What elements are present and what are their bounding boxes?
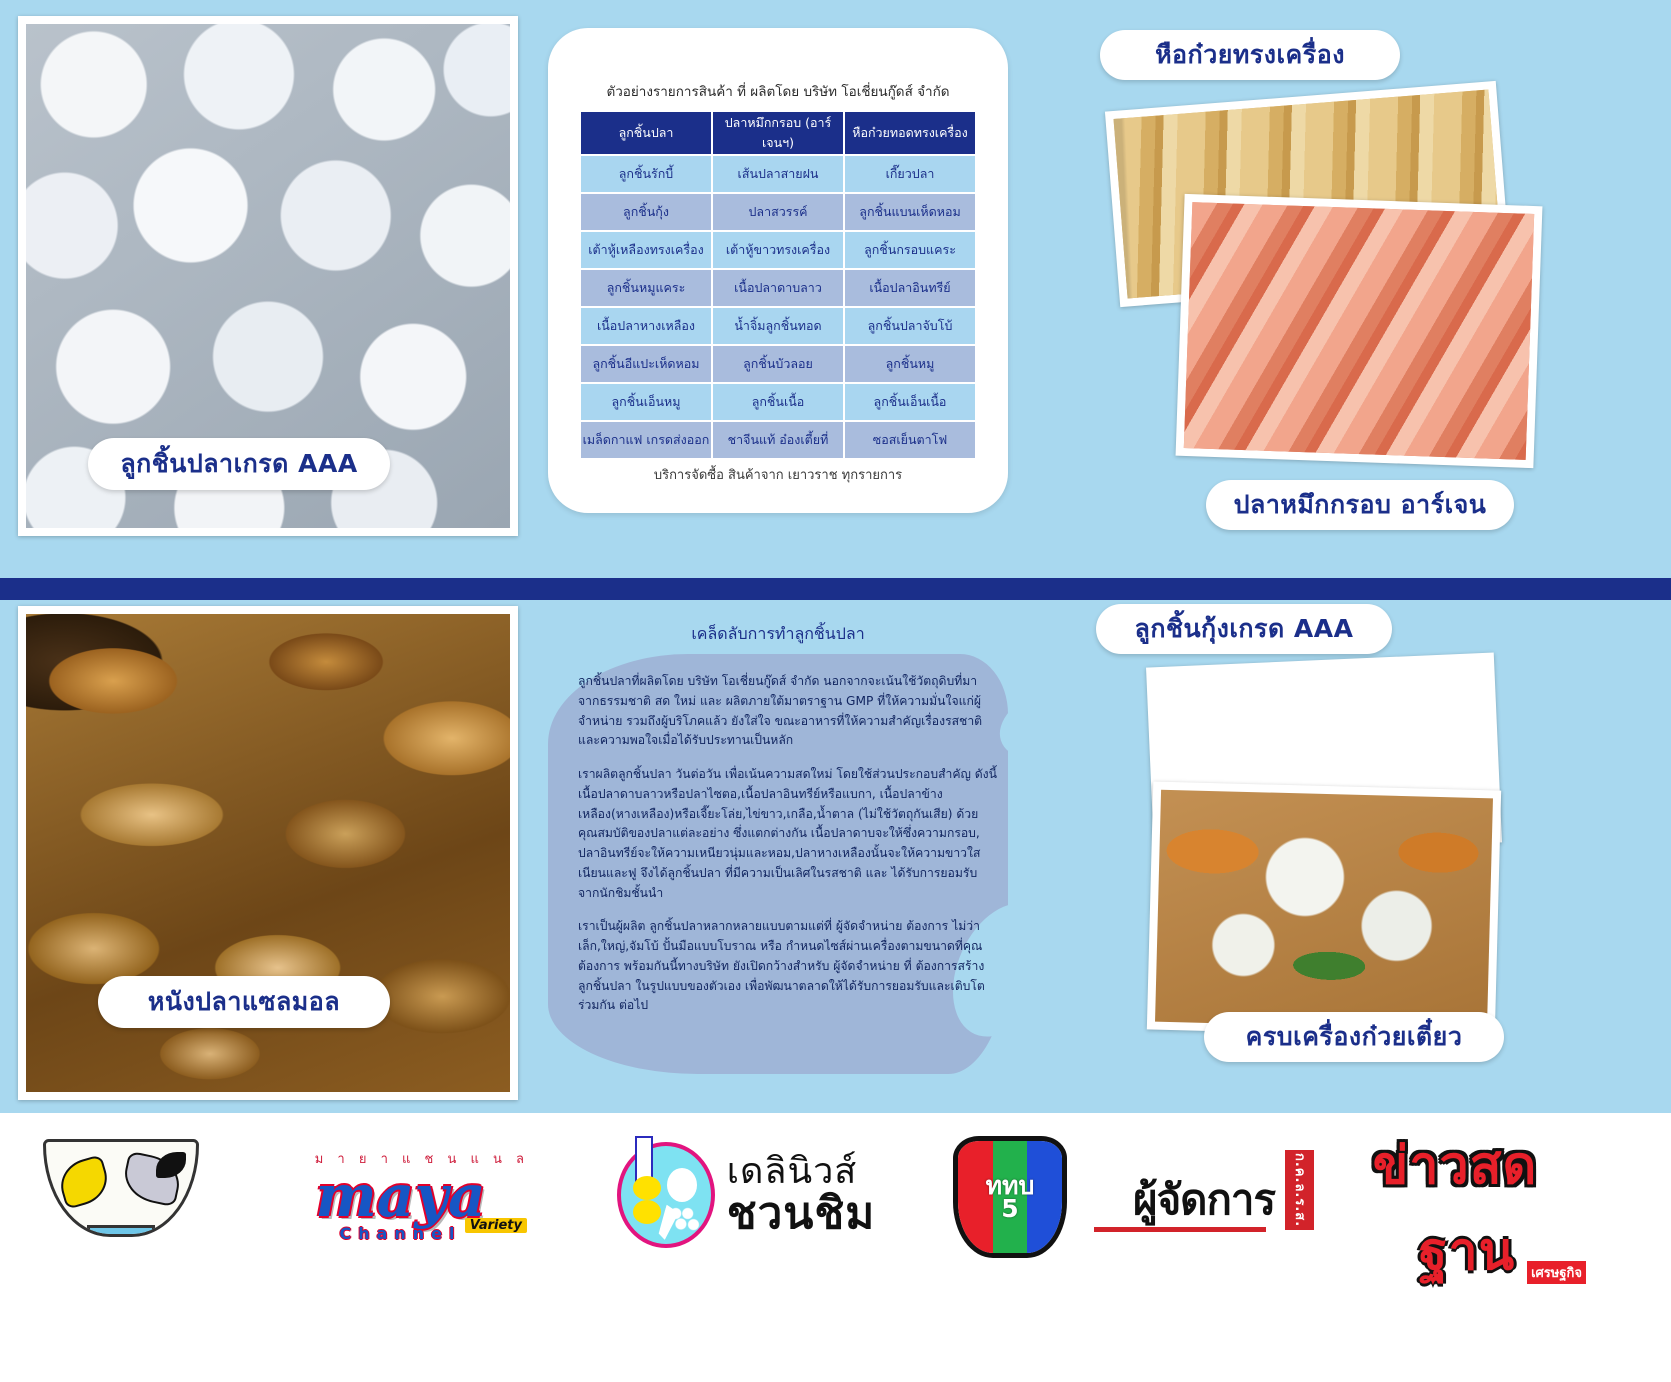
product-list-footer: บริการจัดซื้อ สินค้าจาก เยาวราช ทุกรายกา…	[548, 464, 1008, 485]
tv5-line2: 5	[1001, 1197, 1018, 1220]
table-cell: เต้าหู้ขาวทรงเครื่อง	[713, 232, 843, 268]
table-cell: ลูกชิ้นกรอบแคระ	[845, 232, 975, 268]
label-squid: ปลาหมึกกรอบ อาร์เจน	[1206, 480, 1514, 530]
than-subtitle: เศรษฐกิจ	[1527, 1261, 1586, 1284]
table-row: เนื้อปลาหางเหลือง น้ำจิ้มลูกชิ้นทอด ลูกช…	[581, 308, 975, 344]
sponsor-logo-khaosod: ข่าวสด	[1330, 1128, 1580, 1200]
table-cell: ลูกชิ้นอีแปะเห็ดหอม	[581, 346, 711, 382]
fish-bowl-icon	[43, 1139, 199, 1237]
table-cell: ลูกชิ้นปลาจับโบ้	[845, 308, 975, 344]
table-cell: ลูกชิ้นแบนเห็ดหอม	[845, 194, 975, 230]
tips-paragraph: เราผลิตลูกชิ้นปลา วันต่อวัน เพื่อเน้นควา…	[578, 765, 998, 903]
dailynews-line2: ชวนชิม	[727, 1192, 876, 1236]
yellow-fish-icon	[55, 1154, 113, 1210]
glass-icon	[635, 1136, 653, 1182]
khaosod-wordmark: ข่าวสด	[1373, 1123, 1537, 1206]
table-cell: เต้าหู้เหลืองทรงเครื่อง	[581, 232, 711, 268]
egg-icon	[667, 1168, 697, 1202]
table-cell: เส้นปลาสายฝน	[713, 156, 843, 192]
table-row: ลูกชิ้นเอ็นหมู ลูกชิ้นเนื้อ ลูกชิ้นเอ็นเ…	[581, 384, 975, 420]
tv5-text: ททบ 5	[958, 1141, 1062, 1253]
sponsor-logo-tv5: ททบ 5	[950, 1138, 1070, 1256]
table-cell: ลูกชิ้นหมู	[845, 346, 975, 382]
blob-decoration	[990, 669, 1126, 775]
tv5-shield-icon: ททบ 5	[953, 1136, 1067, 1258]
manager-wordmark: ผู้จัดการ	[1133, 1167, 1275, 1233]
sponsor-logo-fish-bowl	[36, 1128, 206, 1248]
photo-squid	[1176, 194, 1543, 468]
table-header-cell: ลูกชิ้นปลา	[581, 112, 711, 154]
manager-side-box: ก.ค.ล.ร.ส.	[1285, 1150, 1314, 1230]
table-cell: ลูกชิ้นหมูแคระ	[581, 270, 711, 306]
table-cell: ซอสเย็นตาโฟ	[845, 422, 975, 458]
brochure-page: ลูกชิ้นปลาเกรด AAA หนังปลาแซลมอล ตัวอย่า…	[0, 0, 1671, 1382]
table-header-cell: ปลาหมึกกรอบ (อาร์เจนฯ)	[713, 112, 843, 154]
dailynews-wordmark: เดลินิวส์ ชวนชิม	[727, 1154, 876, 1236]
product-list-title: ตัวอย่างรายการสินค้า ที่ ผลิตโดย บริษัท …	[548, 80, 1008, 102]
label-fishball: ลูกชิ้นปลาเกรด AAA	[88, 438, 390, 490]
table-cell: ลูกชิ้นบัวลอย	[713, 346, 843, 382]
table-cell: เนื้อปลาดาบลาว	[713, 270, 843, 306]
table-cell: เนื้อปลาอินทรีย์	[845, 270, 975, 306]
maya-channel-text: Channel	[339, 1224, 461, 1243]
tips-section: เคล็ดลับการทำลูกชิ้นปลา ลูกชิ้นปลาที่ผลิ…	[528, 600, 1028, 1100]
dailynews-line1: เดลินิวส์	[727, 1154, 876, 1190]
black-fish-tail-icon	[156, 1152, 186, 1178]
tips-paragraph: ลูกชิ้นปลาที่ผลิตโดย บริษัท โอเชี่ยนกู๊ด…	[578, 672, 998, 751]
table-cell: ลูกชิ้นกุ้ง	[581, 194, 711, 230]
tips-title: เคล็ดลับการทำลูกชิ้นปลา	[528, 622, 1028, 647]
table-cell: เกี๊ยวปลา	[845, 156, 975, 192]
bowl-foot-icon	[87, 1225, 155, 1237]
product-list-table: ลูกชิ้นปลา ปลาหมึกกรอบ (อาร์เจนฯ) หือก๋ว…	[579, 110, 977, 460]
table-row: เมล็ดกาแฟ เกรดส่งออก ชาจีนแท้ อ๋องเตี้ยท…	[581, 422, 975, 458]
table-row: ลูกชิ้นหมูแคระ เนื้อปลาดาบลาว เนื้อปลาอิ…	[581, 270, 975, 306]
photo-squid-image	[1184, 202, 1534, 460]
table-cell: ลูกชิ้นเอ็นหมู	[581, 384, 711, 420]
than-wordmark: ฐาน	[1419, 1209, 1515, 1292]
sponsor-logo-maya: ม า ย า แ ช น แ น ล maya Variety Channel	[268, 1138, 533, 1253]
maya-variety-tag: Variety	[465, 1218, 527, 1233]
table-cell: น้ำจิ้มลูกชิ้นทอด	[713, 308, 843, 344]
dailynews-emblem-icon	[617, 1142, 715, 1248]
photo-noodlebowl-image	[1155, 790, 1493, 1031]
table-header-cell: หือก๋วยทอดทรงเครื่อง	[845, 112, 975, 154]
egg-yolk-icon	[633, 1176, 661, 1200]
table-cell: เมล็ดกาแฟ เกรดส่งออก	[581, 422, 711, 458]
table-cell: ลูกชิ้นรักบี้	[581, 156, 711, 192]
table-row: ลูกชิ้นอีแปะเห็ดหอม ลูกชิ้นบัวลอย ลูกชิ้…	[581, 346, 975, 382]
label-salmon-skin: หนังปลาแซลมอล	[98, 976, 390, 1028]
section-divider	[0, 578, 1671, 600]
manager-underline	[1094, 1227, 1266, 1232]
table-header-row: ลูกชิ้นปลา ปลาหมึกกรอบ (อาร์เจนฯ) หือก๋ว…	[581, 112, 975, 154]
table-row: ลูกชิ้นกุ้ง ปลาสวรรค์ ลูกชิ้นแบนเห็ดหอม	[581, 194, 975, 230]
table-row: ลูกชิ้นรักบี้ เส้นปลาสายฝน เกี๊ยวปลา	[581, 156, 975, 192]
label-hoikuai: หือก๋วยทรงเครื่อง	[1100, 30, 1400, 80]
tips-body: ลูกชิ้นปลาที่ผลิตโดย บริษัท โอเชี่ยนกู๊ด…	[578, 672, 998, 1062]
table-cell: เนื้อปลาหางเหลือง	[581, 308, 711, 344]
sponsor-logo-than: ฐาน เศรษฐกิจ	[1352, 1212, 1582, 1288]
label-noodlebowl: ครบเครื่องก๋วยเตี๋ยว	[1204, 1012, 1504, 1062]
table-cell: ปลาสวรรค์	[713, 194, 843, 230]
egg-yolk-icon	[633, 1200, 661, 1224]
table-row: เต้าหู้เหลืองทรงเครื่อง เต้าหู้ขาวทรงเคร…	[581, 232, 975, 268]
table-cell: ลูกชิ้นเนื้อ	[713, 384, 843, 420]
table-cell: ลูกชิ้นเอ็นเนื้อ	[845, 384, 975, 420]
label-shrimpball: ลูกชิ้นกุ้งเกรด AAA	[1096, 604, 1392, 654]
tips-paragraph: เราเป็นผู้ผลิต ลูกชิ้นปลาหลากหลายแบบตามแ…	[578, 917, 998, 1016]
sponsor-logo-dailynews: เดลินิวส์ ชวนชิม	[566, 1140, 926, 1250]
product-list-card: ตัวอย่างรายการสินค้า ที่ ผลิตโดย บริษัท …	[548, 28, 1008, 513]
maya-wordmark: maya	[315, 1169, 485, 1225]
sponsor-logo-manager: ผู้จัดการ ก.ค.ล.ร.ส.	[1094, 1158, 1314, 1242]
table-cell: ชาจีนแท้ อ๋องเตี้ยที่	[713, 422, 843, 458]
photo-noodlebowl	[1147, 781, 1501, 1038]
